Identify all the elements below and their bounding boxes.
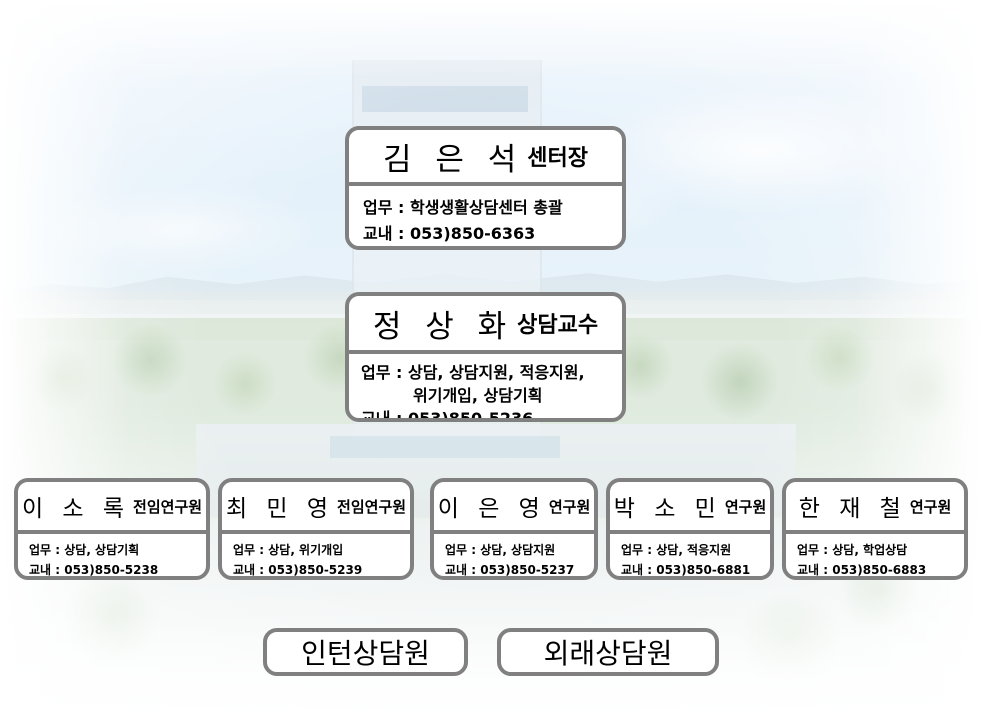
node-details: 업무 : 상담, 상담지원, 적응지원, 위기개입, 상담기획 교내 : 053… (349, 354, 622, 422)
person-role: 전임연구원 (133, 496, 202, 517)
person-role: 상담교수 (517, 307, 598, 339)
person-role: 센터장 (527, 140, 588, 172)
person-role: 연구원 (725, 496, 766, 517)
phone-line: 교내 : 053)850-5238 (29, 560, 206, 580)
low-building-windows (330, 436, 560, 458)
duty-line: 업무 : 상담, 위기개입 (233, 540, 410, 560)
duty-line: 업무 : 상담, 상담지원, 적응지원, (361, 361, 622, 384)
duty-line: 업무 : 상담, 학업상담 (797, 540, 964, 560)
person-name: 박 소 민 (614, 489, 722, 523)
node-header: 김 은 석 센터장 (349, 130, 622, 182)
person-name: 한 재 철 (799, 489, 907, 523)
org-node-staff-3[interactable]: 이 은 영 연구원 업무 : 상담, 상담지원 교내 : 053)850-523… (430, 478, 598, 580)
node-details: 업무 : 상담, 적응지원 교내 : 053)850-6881 (610, 534, 770, 580)
person-name: 이 소 록 (22, 489, 130, 523)
node-details: 업무 : 상담, 학업상담 교내 : 053)850-6883 (786, 534, 964, 580)
phone-line: 교내 : 053)850-5237 (445, 560, 594, 580)
node-details: 업무 : 상담, 위기개입 교내 : 053)850-5239 (222, 534, 410, 580)
duty-line-continued: 위기개입, 상담기획 (361, 384, 622, 407)
org-node-center-director[interactable]: 김 은 석 센터장 업무 : 학생생활상담센터 총괄 교내 : 053)850-… (345, 126, 626, 250)
node-header: 이 소 록 전임연구원 (18, 482, 206, 530)
person-role: 연구원 (549, 496, 590, 517)
duty-line: 업무 : 상담, 상담지원 (445, 540, 594, 560)
node-header: 한 재 철 연구원 (786, 482, 964, 530)
person-role: 연구원 (910, 496, 951, 517)
phone-line: 교내 : 053)850-5236 (361, 407, 622, 422)
phone-line: 교내 : 053)850-5239 (233, 560, 410, 580)
phone-line: 교내 : 053)850-6883 (797, 560, 964, 580)
node-details: 업무 : 상담, 상담기획 교내 : 053)850-5238 (18, 534, 206, 580)
org-node-staff-5[interactable]: 한 재 철 연구원 업무 : 상담, 학업상담 교내 : 053)850-688… (782, 478, 968, 580)
phone-line: 교내 : 053)850-6881 (621, 560, 770, 580)
duty-line: 업무 : 상담, 상담기획 (29, 540, 206, 560)
person-name: 김 은 석 (383, 134, 523, 179)
node-details: 업무 : 상담, 상담지원 교내 : 053)850-5237 (434, 534, 594, 580)
group-label: 인턴상담원 (301, 632, 430, 672)
org-node-counseling-professor[interactable]: 정 상 화 상담교수 업무 : 상담, 상담지원, 적응지원, 위기개입, 상담… (345, 292, 626, 422)
org-node-staff-2[interactable]: 최 민 영 전임연구원 업무 : 상담, 위기개입 교내 : 053)850-5… (218, 478, 414, 580)
node-header: 이 은 영 연구원 (434, 482, 594, 530)
org-node-external-counselor[interactable]: 외래상담원 (497, 628, 719, 676)
person-name: 이 은 영 (438, 489, 546, 523)
duty-line: 업무 : 상담, 적응지원 (621, 540, 770, 560)
tower-window-band (362, 86, 528, 112)
duty-line: 업무 : 학생생활상담센터 총괄 (363, 195, 622, 221)
org-node-staff-4[interactable]: 박 소 민 연구원 업무 : 상담, 적응지원 교내 : 053)850-688… (606, 478, 774, 580)
node-header: 박 소 민 연구원 (610, 482, 770, 530)
node-header: 최 민 영 전임연구원 (222, 482, 410, 530)
phone-line: 교내 : 053)850-6363 (363, 221, 622, 247)
group-label: 외래상담원 (544, 632, 673, 672)
person-name: 정 상 화 (373, 301, 513, 346)
node-details: 업무 : 학생생활상담센터 총괄 교내 : 053)850-6363 (349, 186, 622, 247)
node-header: 정 상 화 상담교수 (349, 296, 622, 350)
org-node-staff-1[interactable]: 이 소 록 전임연구원 업무 : 상담, 상담기획 교내 : 053)850-5… (14, 478, 210, 580)
person-role: 전임연구원 (337, 496, 406, 517)
org-node-intern-counselor[interactable]: 인턴상담원 (263, 628, 468, 676)
person-name: 최 민 영 (226, 489, 334, 523)
org-chart-canvas: 김 은 석 센터장 업무 : 학생생활상담센터 총괄 교내 : 053)850-… (0, 0, 982, 720)
